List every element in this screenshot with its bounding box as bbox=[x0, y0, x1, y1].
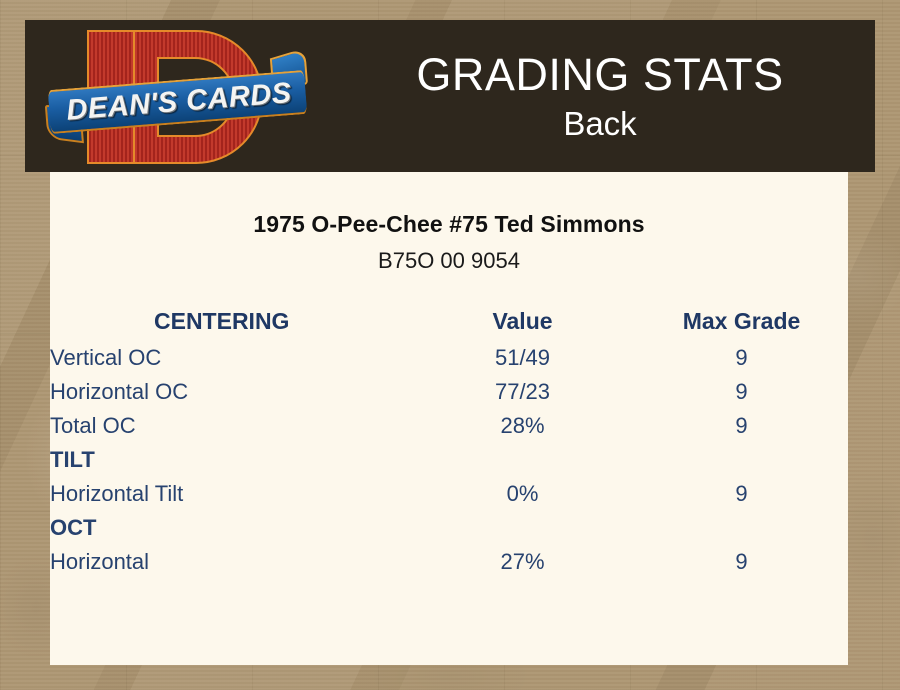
table-header-row: CENTERING Value Max Grade bbox=[50, 308, 848, 341]
grading-stats-table: CENTERING Value Max Grade Vertical OC51/… bbox=[50, 308, 848, 579]
cell-label: Horizontal OC bbox=[50, 375, 410, 409]
cell-value: 28% bbox=[410, 409, 635, 443]
cell-value: 51/49 bbox=[410, 341, 635, 375]
table-row: Vertical OC51/499 bbox=[50, 341, 848, 375]
cell-label: Horizontal bbox=[50, 545, 410, 579]
table-header: CENTERING Value Max Grade bbox=[50, 308, 848, 341]
page-title: GRADING STATS bbox=[416, 48, 783, 102]
deans-cards-logo: DEAN'S CARDS bbox=[45, 28, 310, 166]
logo-ribbon-banner: DEAN'S CARDS bbox=[43, 66, 311, 139]
header-title-group: GRADING STATS Back bbox=[325, 20, 875, 172]
card-code: B75O 00 9054 bbox=[50, 248, 848, 274]
table-section-row: TILT bbox=[50, 443, 848, 477]
table-row: Total OC28%9 bbox=[50, 409, 848, 443]
section-title: OCT bbox=[50, 511, 410, 545]
section-spacer-grade bbox=[635, 511, 848, 545]
column-header-max-grade: Max Grade bbox=[635, 308, 848, 341]
cell-grade: 9 bbox=[635, 477, 848, 511]
cell-grade: 9 bbox=[635, 545, 848, 579]
cell-label: Vertical OC bbox=[50, 341, 410, 375]
card-title: 1975 O-Pee-Chee #75 Ted Simmons bbox=[50, 211, 848, 238]
section-spacer-grade bbox=[635, 443, 848, 477]
column-header-category: CENTERING bbox=[50, 308, 410, 341]
section-spacer-value bbox=[410, 443, 635, 477]
cell-grade: 9 bbox=[635, 341, 848, 375]
table-row: Horizontal27%9 bbox=[50, 545, 848, 579]
table-section-row: OCT bbox=[50, 511, 848, 545]
cell-value: 0% bbox=[410, 477, 635, 511]
page-subtitle: Back bbox=[563, 104, 636, 144]
table-row: Horizontal OC77/239 bbox=[50, 375, 848, 409]
cell-grade: 9 bbox=[635, 375, 848, 409]
cell-label: Horizontal Tilt bbox=[50, 477, 410, 511]
cell-value: 27% bbox=[410, 545, 635, 579]
header-bar: DEAN'S CARDS GRADING STATS Back bbox=[25, 20, 875, 172]
cell-value: 77/23 bbox=[410, 375, 635, 409]
section-spacer-value bbox=[410, 511, 635, 545]
cell-label: Total OC bbox=[50, 409, 410, 443]
column-header-value: Value bbox=[410, 308, 635, 341]
grading-stats-page: DEAN'S CARDS GRADING STATS Back 1975 O-P… bbox=[0, 0, 900, 690]
content-panel: 1975 O-Pee-Chee #75 Ted Simmons B75O 00 … bbox=[50, 172, 848, 665]
cell-grade: 9 bbox=[635, 409, 848, 443]
section-title: TILT bbox=[50, 443, 410, 477]
table-row: Horizontal Tilt0%9 bbox=[50, 477, 848, 511]
table-body: Vertical OC51/499Horizontal OC77/239Tota… bbox=[50, 341, 848, 579]
